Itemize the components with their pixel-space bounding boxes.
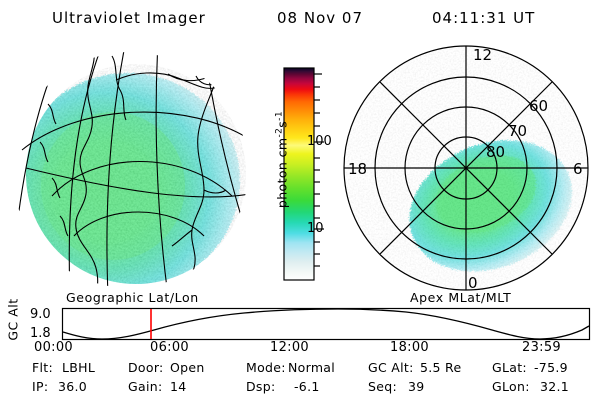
flt-value: LBHL	[62, 360, 95, 375]
gcalt-label: GC Alt:	[368, 360, 414, 375]
status-row-1: Flt: LBHL Door: Open Mode: Normal GC Alt…	[0, 360, 600, 378]
door-label: Door:	[128, 360, 164, 375]
flt-label: Flt:	[32, 360, 53, 375]
time-tick-1800: 18:00	[390, 340, 429, 355]
geographic-subtitle: Geographic Lat/Lon	[66, 290, 199, 305]
mlat-label-80: 80	[486, 143, 505, 161]
apex-dial-svg: 12 18 6 0 60 70 80	[340, 44, 594, 292]
mlt-label-18: 18	[348, 160, 367, 178]
seq-label: Seq:	[368, 379, 397, 394]
ip-value: 36.0	[58, 379, 87, 394]
header: Ultraviolet Imager 08 Nov 07 04:11:31 UT	[0, 6, 600, 32]
door-value: Open	[170, 360, 205, 375]
colorbar-tick-10: 10	[307, 221, 324, 236]
glat-value: -75.9	[534, 360, 568, 375]
altitude-plot-svg	[62, 308, 590, 340]
gain-label: Gain:	[128, 379, 162, 394]
glon-value: 32.1	[540, 379, 569, 394]
altitude-tick-max: 9.0	[30, 307, 51, 322]
time-tick-0000: 00:00	[34, 340, 73, 355]
colorbar-axis-label: photon cm-2s-1	[274, 80, 289, 240]
status-row-2: IP: 36.0 Gain: 14 Dsp: -6.1 Seq: 39 GLon…	[0, 379, 600, 397]
status-footer: Flt: LBHL Door: Open Mode: Normal GC Alt…	[0, 360, 600, 400]
aurora-emission-geographic	[8, 46, 258, 292]
seq-value: 39	[408, 379, 425, 394]
mlat-label-70: 70	[508, 122, 527, 140]
altitude-tick-min: 1.8	[30, 326, 51, 341]
observation-time: 04:11:31 UT	[432, 8, 535, 28]
mlt-label-6: 6	[573, 160, 583, 178]
uvi-summary-plot: Ultraviolet Imager 08 Nov 07 04:11:31 UT	[0, 0, 600, 400]
time-tick-2359: 23:59	[522, 340, 561, 355]
gain-value: 14	[170, 379, 187, 394]
mlt-spokes	[344, 46, 588, 290]
apex-subtitle: Apex MLat/MLT	[410, 290, 511, 305]
instrument-title: Ultraviolet Imager	[52, 8, 206, 28]
geographic-map-svg	[8, 46, 258, 292]
glat-label: GLat:	[492, 360, 527, 375]
mode-label: Mode:	[246, 360, 286, 375]
ip-label: IP:	[32, 379, 48, 394]
altitude-timeline: GC Alt 9.0 1.8 00:00 06:00 12:00 18:00 2…	[0, 304, 600, 354]
dsp-label: Dsp:	[246, 379, 275, 394]
mlt-label-12: 12	[473, 46, 492, 64]
apex-mlat-mlt-panel: 12 18 6 0 60 70 80	[340, 44, 594, 292]
geographic-map-panel	[8, 46, 258, 292]
glon-label: GLon:	[492, 379, 530, 394]
time-tick-1200: 12:00	[270, 340, 309, 355]
time-tick-0600: 06:00	[150, 340, 189, 355]
mode-value: Normal	[288, 360, 335, 375]
colorbar-tick-100: 100	[307, 134, 332, 149]
observation-date: 08 Nov 07	[277, 8, 363, 28]
mlat-label-60: 60	[529, 97, 548, 115]
dsp-value: -6.1	[294, 379, 320, 394]
colorbar-panel: photon cm-2s-1	[264, 60, 336, 288]
gcalt-value: 5.5 Re	[420, 360, 461, 375]
colorbar-ticks	[314, 74, 324, 266]
altitude-axis-label: GC Alt	[6, 296, 21, 344]
